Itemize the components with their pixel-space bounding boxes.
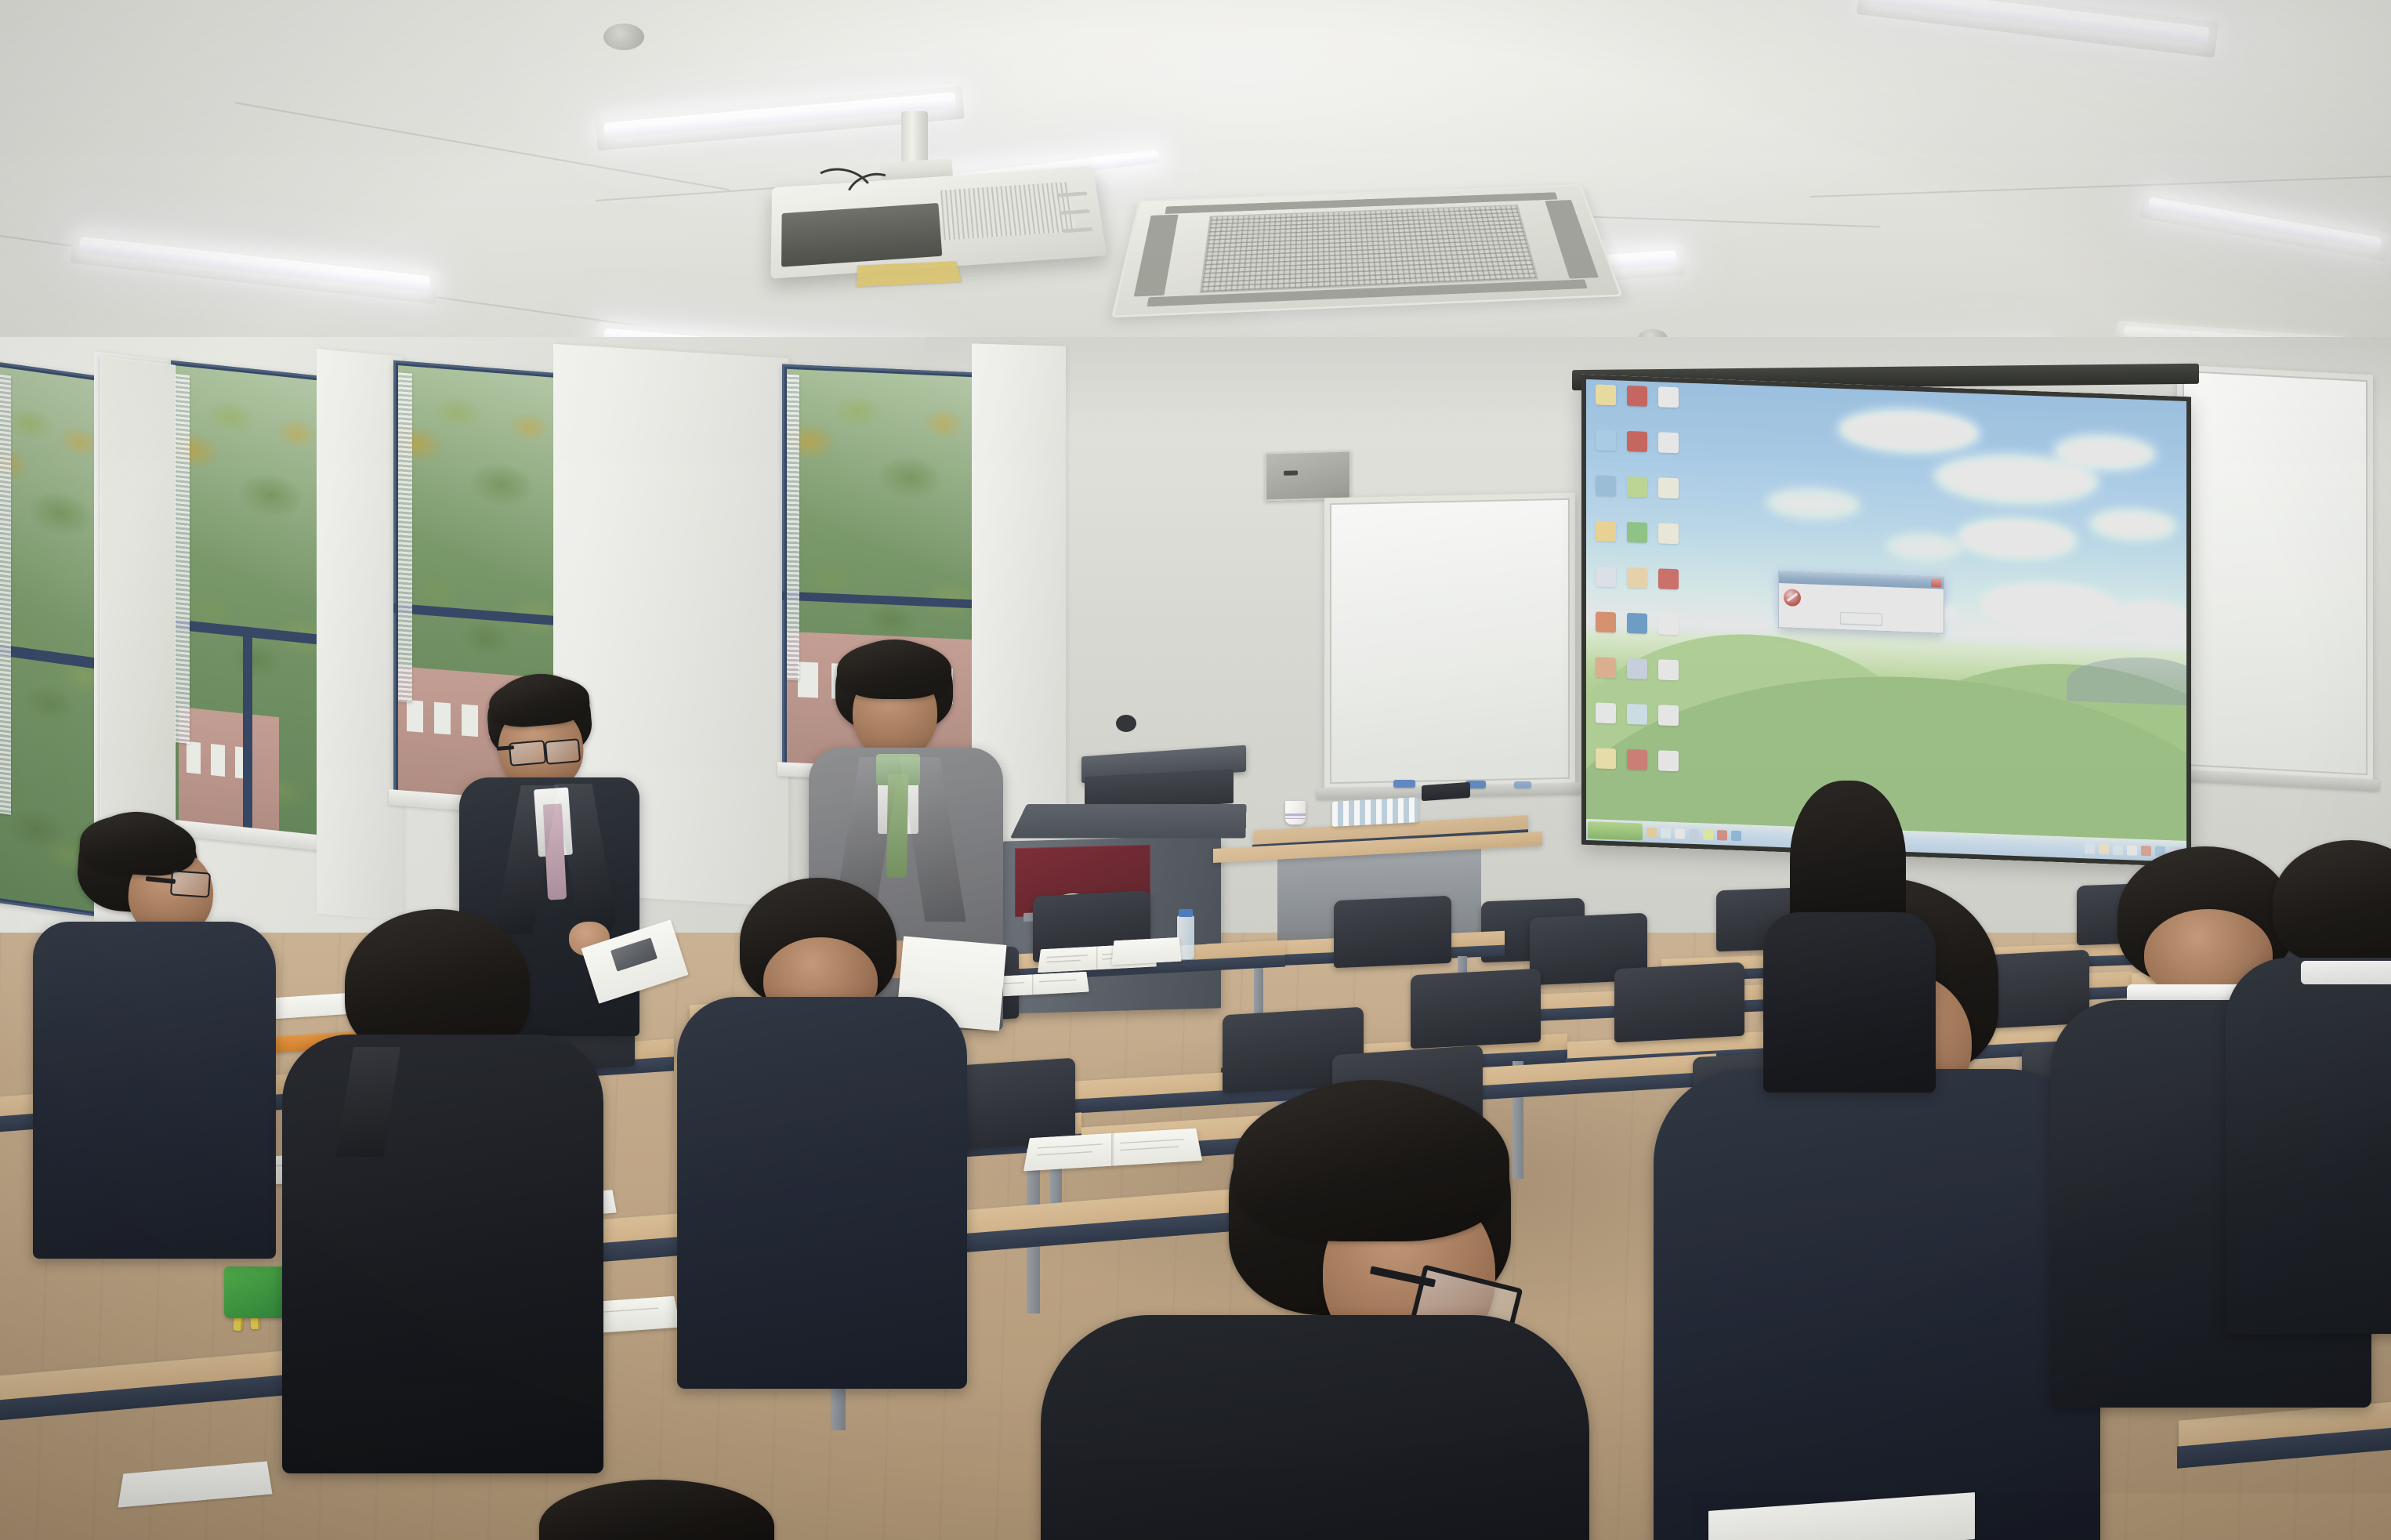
app-icon[interactable] xyxy=(1624,567,1650,596)
window-blind xyxy=(787,375,799,681)
smoke-detector-icon xyxy=(603,24,644,50)
window-glass xyxy=(0,365,97,911)
app-icon[interactable] xyxy=(1624,704,1650,733)
app-icon[interactable] xyxy=(1624,386,1650,415)
shirt-collar xyxy=(2301,961,2391,984)
building-across xyxy=(179,707,280,837)
quicklaunch-icon[interactable] xyxy=(1731,830,1741,840)
document-icon[interactable] xyxy=(1655,614,1682,643)
desktop-icon-label xyxy=(1655,681,1682,688)
desktop-icon-label xyxy=(1655,454,1682,461)
browser-icon[interactable] xyxy=(1624,613,1650,642)
desktop-icon-label xyxy=(1624,453,1650,460)
quicklaunch-icon[interactable] xyxy=(1689,828,1699,839)
desktop-icon-label xyxy=(1624,544,1650,551)
document-icon[interactable] xyxy=(1655,386,1682,415)
desktop-icon-label xyxy=(1655,636,1682,643)
document-icon-glyph xyxy=(1658,432,1679,453)
close-icon[interactable] xyxy=(1931,578,1941,587)
desktop-icon-label xyxy=(1624,635,1650,642)
tray-icon[interactable] xyxy=(2099,843,2109,853)
glasses-icon xyxy=(545,738,581,765)
desktop-icon-label xyxy=(1624,726,1650,733)
desktop-icon-label xyxy=(1592,679,1619,686)
document-icon-glyph xyxy=(1658,659,1679,680)
water-bottle-tray xyxy=(1332,797,1418,827)
app-icon-glyph xyxy=(1596,566,1616,587)
document-icon-glyph xyxy=(1658,750,1679,771)
app-icon-glyph xyxy=(1596,657,1616,678)
folder-icon[interactable] xyxy=(1592,748,1619,777)
app-icon-glyph xyxy=(1627,386,1647,407)
chair[interactable] xyxy=(1411,969,1541,1049)
desktop-icon-label xyxy=(1624,589,1650,596)
folder-icon-glyph xyxy=(1596,475,1616,496)
desktop-icon-label xyxy=(1624,680,1650,687)
app-icon[interactable] xyxy=(1624,522,1650,551)
browser-icon-glyph xyxy=(1627,613,1647,634)
pdf-icon-glyph xyxy=(1658,568,1679,589)
green-snack-bag xyxy=(224,1266,290,1318)
media-icon[interactable] xyxy=(1592,429,1619,458)
document-icon[interactable] xyxy=(1655,705,1682,734)
window-blind xyxy=(176,374,190,744)
quicklaunch-icon[interactable] xyxy=(1717,830,1727,840)
app-icon-glyph xyxy=(1627,567,1647,589)
hair-top xyxy=(1234,1085,1509,1241)
whiteboard xyxy=(1324,493,1575,790)
classroom-photo xyxy=(0,0,2391,1540)
app-icon-glyph xyxy=(1627,431,1647,452)
folder-icon-glyph xyxy=(1596,384,1616,405)
document-icon-glyph xyxy=(1658,614,1679,635)
desktop-icon-label xyxy=(1624,408,1650,415)
lectern-desk-top xyxy=(1010,804,1246,838)
app-icon-glyph xyxy=(1596,702,1616,723)
glasses-icon xyxy=(170,870,211,897)
app-icon[interactable] xyxy=(1624,749,1650,778)
quicklaunch-icon[interactable] xyxy=(1661,828,1671,838)
torso xyxy=(282,1035,603,1473)
quicklaunch-icon[interactable] xyxy=(1703,829,1713,839)
desktop-icon-label xyxy=(1592,588,1619,595)
installer-icon[interactable] xyxy=(1624,476,1650,505)
app-icon-glyph xyxy=(1596,520,1616,542)
torso xyxy=(677,997,967,1389)
desktop-icon-label xyxy=(1592,724,1619,731)
ceiling-ac-unit xyxy=(1111,184,1623,317)
error-stop-icon xyxy=(1784,589,1801,607)
quicklaunch-icon[interactable] xyxy=(1675,828,1685,839)
glasses-icon xyxy=(509,740,546,766)
chair[interactable] xyxy=(1614,962,1744,1043)
projector-vents xyxy=(940,182,1076,241)
torso xyxy=(2226,958,2391,1334)
document-icon[interactable] xyxy=(1655,523,1682,552)
start-button[interactable] xyxy=(1588,821,1643,841)
ac-grille xyxy=(1200,205,1539,293)
app-icon-glyph xyxy=(1627,704,1647,725)
projected-desktop xyxy=(1586,379,2186,862)
document-icon-glyph xyxy=(1658,523,1679,544)
wall-pier xyxy=(317,349,403,921)
paper-cup xyxy=(1285,801,1306,824)
desktop-icon-label xyxy=(1655,590,1682,597)
chair[interactable] xyxy=(1334,896,1451,969)
app-icon[interactable] xyxy=(1592,566,1619,595)
folder-icon[interactable] xyxy=(1592,384,1619,413)
whiteboard-marker xyxy=(1393,780,1415,788)
app-icon[interactable] xyxy=(1624,431,1650,460)
projection-screen xyxy=(1581,375,2191,868)
app-icon-glyph xyxy=(1627,522,1647,543)
desktop-icon-label xyxy=(1592,497,1619,504)
microphone-icon xyxy=(1116,715,1136,732)
desktop-icon-label xyxy=(1592,542,1619,549)
desktop-icon-label xyxy=(1655,727,1682,734)
desktop-icon-label xyxy=(1624,771,1650,778)
document-icon-glyph xyxy=(1658,705,1679,726)
media-icon-glyph xyxy=(1596,429,1616,451)
tray-icon[interactable] xyxy=(2085,843,2095,853)
desktop-icon-label xyxy=(1592,451,1619,458)
window-left-2 xyxy=(171,361,324,847)
hair-fringe xyxy=(837,641,951,699)
desktop-icon-label xyxy=(1592,406,1619,413)
paper-stack xyxy=(1111,937,1181,965)
document-icon[interactable] xyxy=(1655,432,1682,461)
folder-icon[interactable] xyxy=(1592,475,1619,504)
torso xyxy=(33,922,276,1259)
desktop-icon-label xyxy=(1655,772,1682,779)
pdf-icon[interactable] xyxy=(1655,568,1682,597)
app-icon[interactable] xyxy=(1592,702,1619,731)
window-blind xyxy=(0,373,11,814)
app-icon[interactable] xyxy=(1592,611,1619,640)
foliage xyxy=(0,365,97,911)
whiteboard-right xyxy=(2177,364,2373,781)
desktop-icon-label xyxy=(1592,633,1619,640)
window-blind xyxy=(398,372,412,702)
app-icon[interactable] xyxy=(1592,520,1619,549)
tray-icon[interactable] xyxy=(2113,844,2123,854)
tray-icon[interactable] xyxy=(2141,845,2151,855)
torso xyxy=(1654,1069,2100,1540)
quicklaunch-icon[interactable] xyxy=(1647,827,1657,837)
torso xyxy=(1763,912,1936,1092)
document-icon[interactable] xyxy=(1655,659,1682,688)
desktop-icon-label xyxy=(1592,770,1619,777)
document-icon[interactable] xyxy=(1655,750,1682,779)
document-icon[interactable] xyxy=(1655,477,1682,506)
installer-icon-glyph xyxy=(1627,476,1647,498)
app-icon[interactable] xyxy=(1592,657,1619,686)
desktop-icon-label xyxy=(1624,498,1650,505)
app-icon-glyph xyxy=(1596,611,1616,632)
bottle-cap xyxy=(1179,909,1193,917)
torso xyxy=(1041,1315,1589,1540)
folder-icon-glyph xyxy=(1596,748,1616,769)
tray-icon[interactable] xyxy=(2127,845,2137,855)
desktop-icon-label xyxy=(1655,545,1682,552)
dialog-message xyxy=(1806,589,1939,611)
error-dialog[interactable] xyxy=(1778,571,1944,634)
dialog-ok-button[interactable] xyxy=(1840,612,1882,626)
app-icon-glyph xyxy=(1627,658,1647,679)
app-icon[interactable] xyxy=(1624,658,1650,687)
desktop-icon-label xyxy=(1655,408,1682,415)
dialog-title-text xyxy=(1781,578,1931,583)
document-icon-glyph xyxy=(1658,477,1679,498)
whiteboard-marker xyxy=(1514,781,1531,788)
roller-shade xyxy=(100,356,176,882)
wall-speaker-icon xyxy=(1265,451,1351,502)
document-icon-glyph xyxy=(1658,386,1679,408)
app-icon-glyph xyxy=(1627,749,1647,770)
desktop-icon-label xyxy=(1655,499,1682,506)
